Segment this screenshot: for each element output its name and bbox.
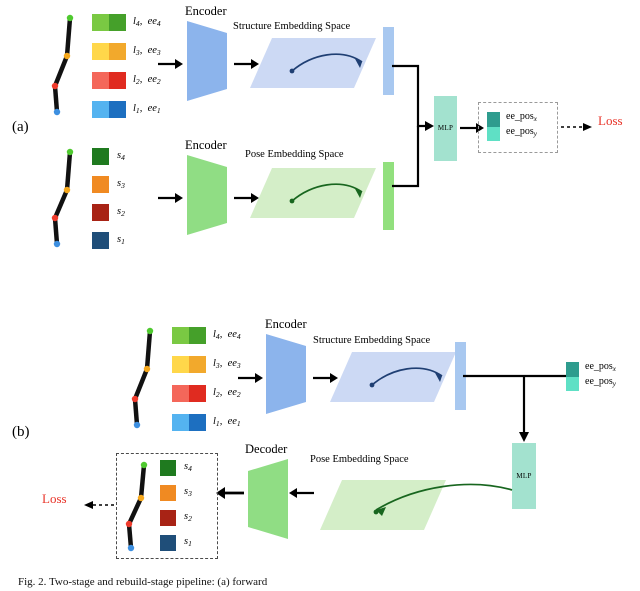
loss-label-b: Loss [42, 492, 67, 505]
joint-base-blue [128, 545, 134, 551]
state-legend-a: s4 s3 s2 s1 [92, 148, 152, 248]
joint-tip-green [67, 149, 73, 155]
pose-embedding-plane-b [320, 462, 520, 542]
robot-arm-reconstructed-b [122, 460, 162, 552]
legend-label-s1: s1 [184, 537, 192, 548]
panel-b-label: (b) [12, 425, 30, 440]
legend-label-l4: l4, ee4 [213, 330, 241, 341]
encoder-block-b [266, 334, 308, 414]
joint-base-blue [54, 241, 60, 247]
swatch-l3 [172, 356, 206, 373]
mlp-label-a: MLP [438, 125, 453, 132]
swatch-l3 [92, 43, 126, 60]
arrow-space-to-decoder-b [288, 487, 314, 499]
eepos-x-label-a: ee_posx [506, 112, 537, 123]
joint-red [132, 396, 138, 402]
joint-orange [64, 53, 70, 59]
legend-label-l3: l3, ee3 [213, 359, 241, 370]
encoder-block-a-bottom [187, 155, 229, 235]
swatch-l4 [172, 327, 206, 344]
encoder-label-a-top: Encoder [185, 5, 227, 18]
joint-tip-green [67, 15, 73, 21]
figure-caption: Fig. 2. Two-stage and rebuild-stage pipe… [18, 575, 622, 591]
swatch-s2 [92, 204, 109, 221]
arrow-to-encoder-a-bottom [158, 192, 184, 204]
structure-space-label-b: Structure Embedding Space [313, 336, 430, 347]
encoder-label-a-bottom: Encoder [185, 139, 227, 152]
joint-base-blue [54, 109, 60, 115]
eepos-swatch-b [566, 362, 579, 391]
joint-orange [144, 366, 150, 372]
eepos-y-label-a: ee_posy [506, 127, 537, 138]
legend-label-s2: s2 [184, 512, 192, 523]
legend-label-l3: l3, ee3 [133, 46, 161, 57]
state-legend-b: s4 s3 s2 s1 [160, 460, 216, 552]
legend-label-s3: s3 [117, 179, 125, 190]
legend-label-l2: l2, ee2 [133, 75, 161, 86]
swatch-s3 [92, 176, 109, 193]
swatch-s4 [160, 460, 176, 476]
swatch-s1 [160, 535, 176, 551]
swatch-l1 [92, 101, 126, 118]
structure-embedding-plane-b [330, 352, 460, 412]
eepos-x-label-b: ee_posx [585, 362, 616, 373]
panel-a-label: (a) [12, 120, 29, 135]
legend-label-l4: l4, ee4 [133, 17, 161, 28]
legend-label-s1: s1 [117, 235, 125, 246]
swatch-l2 [172, 385, 206, 402]
legend-label-l2: l2, ee2 [213, 388, 241, 399]
arrow-to-encoder-a-top [158, 58, 184, 70]
loss-label-a: Loss [598, 114, 623, 127]
joint-red [126, 521, 132, 527]
eepos-y-label-b: ee_posy [585, 377, 616, 388]
robot-arm-structure-a [48, 12, 88, 117]
arrow-to-loss-a [561, 121, 595, 133]
legend-label-s4: s4 [184, 462, 192, 473]
joint-orange [138, 495, 144, 501]
robot-arm-pose-a [48, 148, 88, 248]
mlp-block-a: MLP [434, 96, 457, 161]
swatch-l1 [172, 414, 206, 431]
legend-label-s4: s4 [117, 151, 125, 162]
robot-arm-structure-b [128, 325, 168, 430]
structure-space-label-a: Structure Embedding Space [233, 22, 350, 33]
swatch-l4 [92, 14, 126, 31]
encoder-label-b: Encoder [265, 318, 307, 331]
arrow-decoder-to-output-b [216, 487, 244, 499]
arrow-to-loss-b [82, 499, 114, 511]
structure-embedding-plane-a [250, 38, 380, 98]
arrow-to-encoder-b [238, 372, 264, 384]
eepos-swatch-a [487, 112, 500, 141]
joint-red [52, 215, 58, 221]
swatch-s2 [160, 510, 176, 526]
swatch-s1 [92, 232, 109, 249]
decoder-label-b: Decoder [245, 443, 287, 456]
joint-base-blue [134, 422, 140, 428]
legend-label-s3: s3 [184, 487, 192, 498]
joint-orange [64, 187, 70, 193]
legend-label-s2: s2 [117, 207, 125, 218]
pose-space-label-a: Pose Embedding Space [245, 150, 344, 161]
swatch-s3 [160, 485, 176, 501]
decoder-block-b [248, 459, 290, 539]
joint-tip-green [147, 328, 153, 334]
pose-embedding-plane-a [250, 168, 380, 228]
legend-label-l1: l1, ee1 [213, 417, 241, 428]
encoder-block-a-top [187, 21, 229, 101]
swatch-l2 [92, 72, 126, 89]
figure-root: (a) l4, ee4 l3, ee3 l2, [0, 0, 640, 591]
legend-label-l1: l1, ee1 [133, 104, 161, 115]
swatch-s4 [92, 148, 109, 165]
joint-tip-green [141, 462, 147, 468]
joint-red [52, 83, 58, 89]
